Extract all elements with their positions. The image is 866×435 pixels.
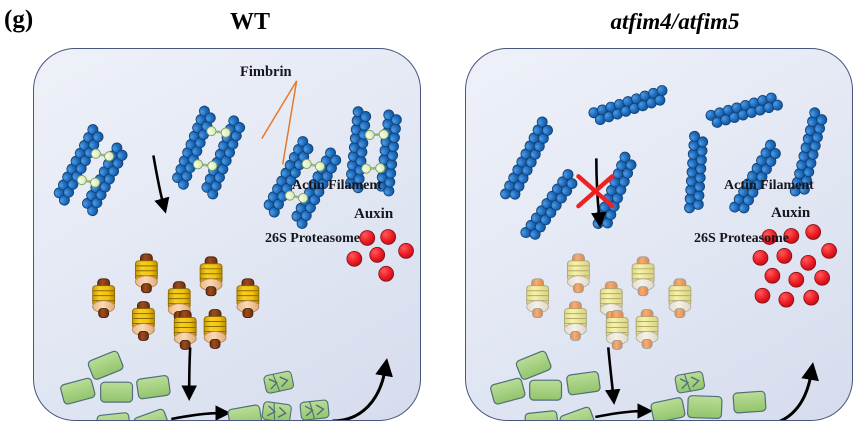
yuc8-degraded: [675, 371, 706, 393]
proteasome: [132, 302, 154, 341]
proteasome: [527, 279, 549, 318]
label-auxin-mutant: Auxin: [771, 206, 810, 221]
proteasome: [204, 310, 226, 349]
label-fimbrin-wt: Fimbrin: [240, 65, 292, 80]
arrow-to-auxin: [760, 373, 811, 420]
actin-filament: [588, 84, 672, 127]
yuc8-protein: [515, 350, 552, 380]
cell-diagram-wt: Fimbrin Actin Filament 26S Proteasome Au…: [33, 48, 421, 421]
arrow-actin-to-proteasome: [153, 155, 163, 204]
yuc8-protein: [530, 380, 562, 400]
fimbrin-leader-lines: [262, 81, 297, 165]
arrow-proteasome-to-yuc8: [608, 347, 613, 395]
proteasome: [93, 279, 115, 318]
actin-bundle: [51, 123, 134, 221]
proteasome: [564, 302, 586, 341]
proteasome: [632, 257, 654, 296]
arrow-to-auxin: [332, 369, 385, 420]
yuc8-protein: [733, 391, 766, 413]
yuc8-protein: [97, 412, 131, 420]
figure-panel-g: (g) WT atfim4/atfim5: [0, 0, 866, 435]
proteasome: [636, 310, 658, 349]
yuc8-protein: [559, 406, 596, 420]
yuc8-protein: [60, 377, 96, 404]
proteasome: [567, 254, 589, 293]
arrow-yuc8-to-degraded: [595, 411, 643, 417]
yuc8-protein: [101, 382, 133, 402]
yuc8-protein: [650, 397, 685, 420]
actin-bundle: [169, 103, 247, 203]
wt-cell-graphics: [34, 49, 420, 420]
figure-letter: (g): [4, 6, 33, 34]
label-26s-proteasome-wt: 26S Proteasome: [265, 232, 360, 246]
yuc8-protein: [133, 408, 170, 420]
yuc8-degraded: [262, 401, 292, 420]
proteasome: [237, 279, 259, 318]
label-auxin-wt: Auxin: [354, 207, 393, 222]
yuc8-protein: [566, 371, 600, 395]
actin-filament: [705, 91, 784, 130]
cell-diagram-mutant: Actin Filament 26S Proteasome Auxin YUC8: [465, 48, 853, 421]
label-actin-filament-mutant: Actin Filament: [724, 179, 814, 193]
label-26s-proteasome-mutant: 26S Proteasome: [694, 232, 789, 246]
panel-title-wt: WT: [150, 9, 350, 36]
arrow-yuc8-to-degraded: [171, 413, 221, 419]
yuc8-protein: [136, 375, 170, 399]
yuc8-protein: [228, 404, 263, 420]
label-actin-filament-wt: Actin Filament: [292, 179, 382, 193]
proteasome: [135, 254, 157, 293]
proteasome: [200, 257, 222, 296]
actin-filament: [684, 131, 708, 214]
actin-filament: [499, 115, 557, 204]
yuc8-degraded: [300, 400, 330, 420]
yuc8-degraded: [263, 371, 294, 394]
mutant-cell-graphics: [466, 49, 852, 420]
arrow-proteasome-to-yuc8: [189, 347, 190, 391]
proteasome: [669, 279, 691, 318]
yuc8-protein: [490, 377, 526, 404]
yuc8-protein: [525, 410, 559, 420]
yuc8-protein: [87, 350, 124, 380]
yuc8-protein: [687, 396, 722, 419]
panel-title-mutant: atfim4/atfim5: [555, 9, 795, 35]
